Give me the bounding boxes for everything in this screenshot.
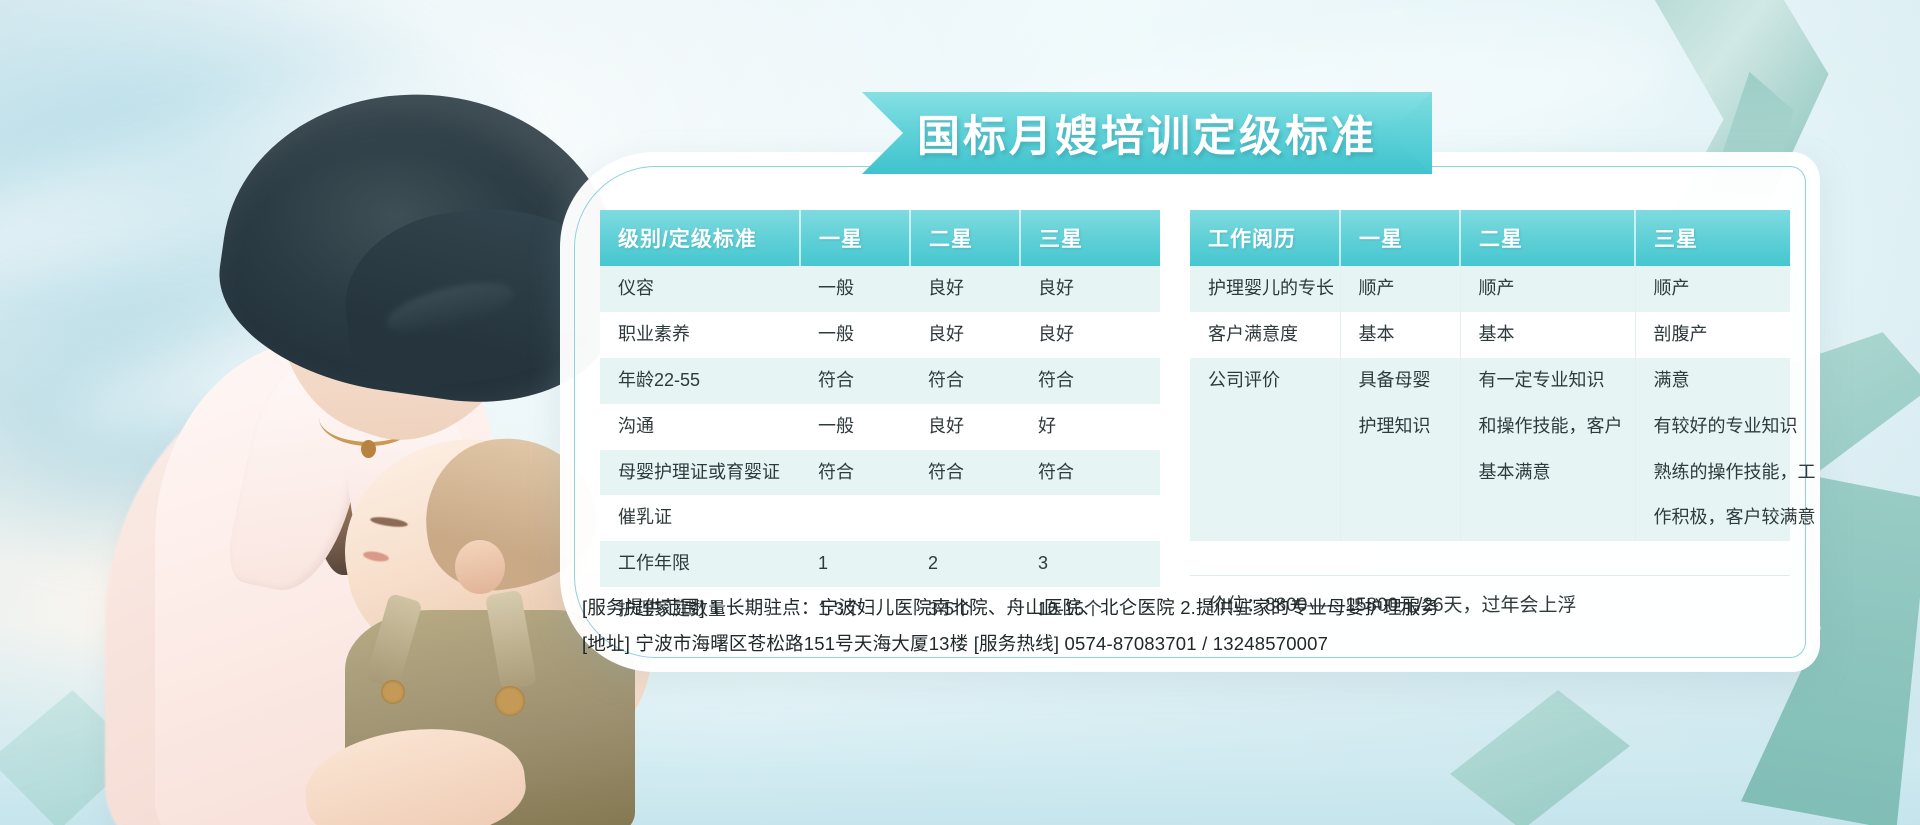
- cell-three-star: 顺产: [1635, 266, 1790, 312]
- cell-one-star: 一般: [800, 266, 910, 312]
- cell-one-star: 一般: [800, 404, 910, 450]
- table-row: 仪容 一般 良好 良好: [600, 266, 1160, 312]
- address-hotline-note: [地址] 宁波市海曙区苍松路151号天海大厦13楼 [服务热线] 0574-87…: [582, 626, 1782, 662]
- cell-one-star: 符合: [800, 450, 910, 496]
- cell-experience: [1190, 450, 1340, 496]
- table-row: 职业素养 一般 良好 良好: [600, 312, 1160, 358]
- cell-one-star: 1: [800, 541, 910, 587]
- cell-one-star: 基本: [1340, 312, 1460, 358]
- cell-one-star: [800, 495, 910, 541]
- table-row: 沟通 一般 良好 好: [600, 404, 1160, 450]
- cell-experience: [1190, 404, 1340, 450]
- cell-two-star: 良好: [910, 266, 1020, 312]
- cell-two-star: 顺产: [1460, 266, 1635, 312]
- col-header-experience: 工作阅历: [1190, 210, 1340, 266]
- table-header-row: 级别/定级标准 一星 二星 三星: [600, 210, 1160, 266]
- cell-criteria: 年龄22-55: [600, 358, 800, 404]
- cell-two-star: 符合: [910, 358, 1020, 404]
- cell-one-star: [1340, 450, 1460, 496]
- tables-container: 级别/定级标准 一星 二星 三星 仪容 一般 良好 良好 职业素养 一般 良好: [600, 210, 1790, 540]
- work-experience-table: 工作阅历 一星 二星 三星 护理婴儿的专长 顺产 顺产 顺产 客户满意度 基本 …: [1190, 210, 1790, 541]
- cell-three-star: 满意: [1635, 358, 1790, 404]
- table-row: 护理婴儿的专长 顺产 顺产 顺产: [1190, 266, 1790, 312]
- photo-baby-button-right: [495, 686, 525, 716]
- cell-experience: 公司评价: [1190, 358, 1340, 404]
- cell-two-star: 符合: [910, 450, 1020, 496]
- photo-baby-ear: [455, 540, 505, 594]
- col-header-criteria: 级别/定级标准: [600, 210, 800, 266]
- col-header-one-star: 一星: [1340, 210, 1460, 266]
- footer-notes: [服务提供范围] 1.长期驻点：宁波妇儿医院南北院、舟山医院、北仑医院 2.提供…: [582, 590, 1782, 662]
- cell-experience: 护理婴儿的专长: [1190, 266, 1340, 312]
- table-row: 母婴护理证或育婴证 符合 符合 符合: [600, 450, 1160, 496]
- cell-three-star: 剖腹产: [1635, 312, 1790, 358]
- photo-baby-button-left: [381, 680, 405, 704]
- cell-three-star: 符合: [1020, 450, 1160, 496]
- cell-criteria: 催乳证: [600, 495, 800, 541]
- cell-three-star: 作积极，客户较满意: [1635, 495, 1790, 541]
- table-row: 护理知识 和操作技能，客户 有较好的专业知识: [1190, 404, 1790, 450]
- table-row: 工作年限 1 2 3: [600, 541, 1160, 587]
- cell-one-star: 具备母婴: [1340, 358, 1460, 404]
- table-header-row: 工作阅历 一星 二星 三星: [1190, 210, 1790, 266]
- cell-two-star: [1460, 495, 1635, 541]
- cell-two-star: 良好: [910, 404, 1020, 450]
- table-row: 客户满意度 基本 基本 剖腹产: [1190, 312, 1790, 358]
- cell-criteria: 母婴护理证或育婴证: [600, 450, 800, 496]
- cell-two-star: 和操作技能，客户: [1460, 404, 1635, 450]
- cell-two-star: [910, 495, 1020, 541]
- work-experience-table-body: 护理婴儿的专长 顺产 顺产 顺产 客户满意度 基本 基本 剖腹产 公司评价 具备…: [1190, 266, 1790, 541]
- cell-experience: 客户满意度: [1190, 312, 1340, 358]
- cell-three-star: 符合: [1020, 358, 1160, 404]
- cell-one-star: 符合: [800, 358, 910, 404]
- col-header-two-star: 二星: [1460, 210, 1635, 266]
- cell-three-star: 好: [1020, 404, 1160, 450]
- cell-two-star: 基本: [1460, 312, 1635, 358]
- banner-title: 国标月嫂培训定级标准: [917, 102, 1377, 164]
- work-experience-table-head: 工作阅历 一星 二星 三星: [1190, 210, 1790, 266]
- cell-criteria: 工作年限: [600, 541, 800, 587]
- col-header-three-star: 三星: [1020, 210, 1160, 266]
- cell-two-star: 有一定专业知识: [1460, 358, 1635, 404]
- col-header-three-star: 三星: [1635, 210, 1790, 266]
- work-experience-table-wrapper: 工作阅历 一星 二星 三星 护理婴儿的专长 顺产 顺产 顺产 客户满意度 基本 …: [1190, 210, 1790, 540]
- cell-three-star: [1020, 495, 1160, 541]
- cell-three-star: 熟练的操作技能，工: [1635, 450, 1790, 496]
- grading-standards-table: 级别/定级标准 一星 二星 三星 仪容 一般 良好 良好 职业素养 一般 良好: [600, 210, 1160, 633]
- grading-standards-table-body: 仪容 一般 良好 良好 职业素养 一般 良好 良好 年龄22-55 符合 符合 …: [600, 266, 1160, 633]
- table-row: 年龄22-55 符合 符合 符合: [600, 358, 1160, 404]
- table-row: 公司评价 具备母婴 有一定专业知识 满意: [1190, 358, 1790, 404]
- col-header-two-star: 二星: [910, 210, 1020, 266]
- cell-three-star: 3: [1020, 541, 1160, 587]
- table-row: 作积极，客户较满意: [1190, 495, 1790, 541]
- table-row: 催乳证: [600, 495, 1160, 541]
- cell-criteria: 职业素养: [600, 312, 800, 358]
- cell-criteria: 仪容: [600, 266, 800, 312]
- cell-two-star: 2: [910, 541, 1020, 587]
- cell-experience: [1190, 495, 1340, 541]
- col-header-one-star: 一星: [800, 210, 910, 266]
- grading-standards-table-wrapper: 级别/定级标准 一星 二星 三星 仪容 一般 良好 良好 职业素养 一般 良好: [600, 210, 1160, 540]
- cell-two-star: 基本满意: [1460, 450, 1635, 496]
- cell-one-star: 一般: [800, 312, 910, 358]
- service-scope-note: [服务提供范围] 1.长期驻点：宁波妇儿医院南北院、舟山医院、北仑医院 2.提供…: [582, 590, 1782, 626]
- cell-three-star: 有较好的专业知识: [1635, 404, 1790, 450]
- table-row: 基本满意 熟练的操作技能，工: [1190, 450, 1790, 496]
- cell-one-star: [1340, 495, 1460, 541]
- cell-three-star: 良好: [1020, 312, 1160, 358]
- cell-criteria: 沟通: [600, 404, 800, 450]
- cell-two-star: 良好: [910, 312, 1020, 358]
- grading-standards-table-head: 级别/定级标准 一星 二星 三星: [600, 210, 1160, 266]
- cell-one-star: 护理知识: [1340, 404, 1460, 450]
- photo-pendant: [361, 440, 376, 458]
- cell-three-star: 良好: [1020, 266, 1160, 312]
- cell-one-star: 顺产: [1340, 266, 1460, 312]
- title-banner: 国标月嫂培训定级标准: [862, 92, 1432, 174]
